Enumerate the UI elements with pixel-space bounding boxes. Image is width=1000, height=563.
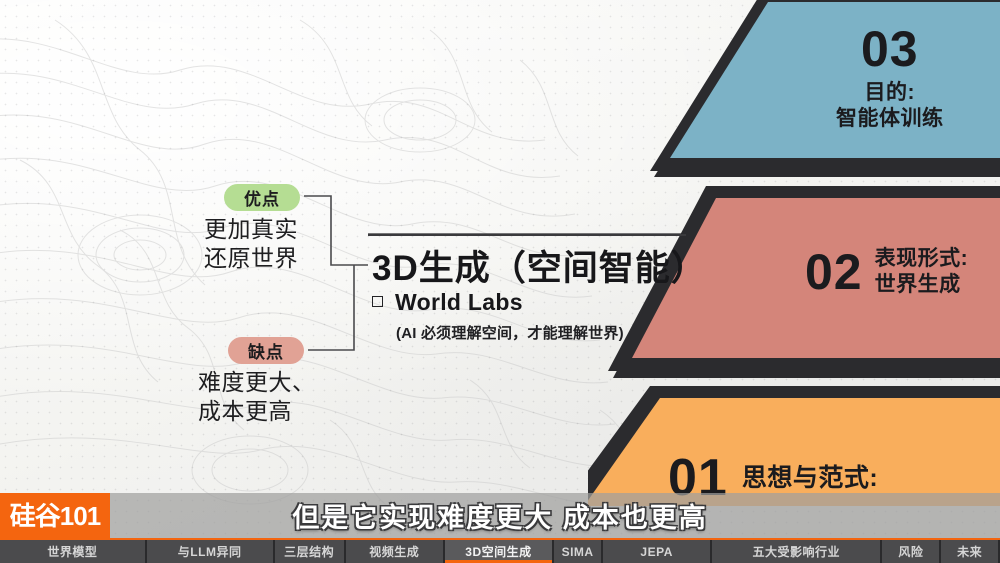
pros-pill: 优点	[224, 184, 300, 211]
chapter-item-3[interactable]: 视频生成	[346, 540, 445, 563]
bullet-note: (AI 必须理解空间，才能理解世界)	[396, 322, 624, 343]
tier-02-number: 02	[805, 247, 863, 297]
slide-canvas: 03 目的: 智能体训练 02 表现形式: 世界生成 01 思想与范式: 优点 …	[0, 0, 1000, 563]
square-bullet-icon	[372, 296, 383, 307]
tier-02-caption-line1: 表现形式:	[875, 246, 969, 272]
pyramid-tier-03	[650, 0, 1000, 177]
pyramid-tier-03-label: 03 目的: 智能体训练	[836, 24, 944, 131]
cons-pill: 缺点	[228, 337, 304, 364]
chapter-item-label: 与LLM异同	[178, 543, 242, 560]
chapter-item-label: 世界模型	[47, 543, 97, 560]
chapter-item-label: 3D空间生成	[465, 543, 531, 560]
chapter-item-6[interactable]: JEPA	[603, 540, 712, 563]
cons-note-line1: 难度更大、	[198, 368, 316, 397]
chapter-item-2[interactable]: 三层结构	[275, 540, 346, 563]
chapter-item-4[interactable]: 3D空间生成	[445, 540, 554, 563]
chapter-item-label: 未来	[957, 543, 982, 560]
chapter-item-label: 视频生成	[369, 543, 419, 560]
title-rule	[368, 234, 686, 236]
pros-note-line1: 更加真实	[204, 215, 298, 244]
chapter-progress-bar[interactable]: 世界模型与LLM异同三层结构视频生成3D空间生成SIMAJEPA五大受影响行业风…	[0, 538, 1000, 563]
subtitle-band: 但是它实现难度更大 成本也更高	[0, 493, 1000, 538]
tier-03-caption: 目的: 智能体训练	[836, 80, 944, 131]
tier-03-number: 03	[836, 24, 944, 74]
chapter-item-label: SIMA	[562, 545, 594, 559]
chapter-item-label: 风险	[898, 543, 923, 560]
logo-text: 硅谷101	[10, 503, 100, 529]
tier-02-caption-line2: 世界生成	[875, 272, 969, 298]
chapter-item-label: 三层结构	[284, 543, 334, 560]
tier-02-caption: 表现形式: 世界生成	[875, 246, 969, 297]
subtitle-text: 但是它实现难度更大 成本也更高	[292, 496, 708, 535]
pros-note-line2: 还原世界	[204, 244, 298, 273]
chapter-item-7[interactable]: 五大受影响行业	[712, 540, 882, 563]
slide-title: 3D生成（空间智能）	[372, 240, 707, 291]
chapter-item-9[interactable]: 未来	[941, 540, 1000, 563]
chapter-item-8[interactable]: 风险	[882, 540, 941, 563]
cons-note: 难度更大、 成本更高	[198, 368, 316, 427]
bullet-label: World Labs	[395, 289, 523, 316]
chapter-item-label: JEPA	[640, 545, 672, 559]
pyramid-tier-02-label: 02 表现形式: 世界生成	[805, 246, 968, 297]
tier-03-caption-line1: 目的:	[836, 80, 944, 106]
tier-01-caption: 思想与范式:	[742, 463, 878, 494]
cons-note-line2: 成本更高	[198, 397, 316, 426]
chapter-item-1[interactable]: 与LLM异同	[147, 540, 275, 563]
chapter-item-5[interactable]: SIMA	[554, 540, 603, 563]
chapter-item-label: 五大受影响行业	[753, 543, 841, 560]
tier-03-caption-line2: 智能体训练	[836, 106, 944, 132]
pros-note: 更加真实 还原世界	[204, 215, 298, 274]
chapter-item-0[interactable]: 世界模型	[0, 540, 147, 563]
channel-logo: 硅谷101	[0, 493, 110, 538]
